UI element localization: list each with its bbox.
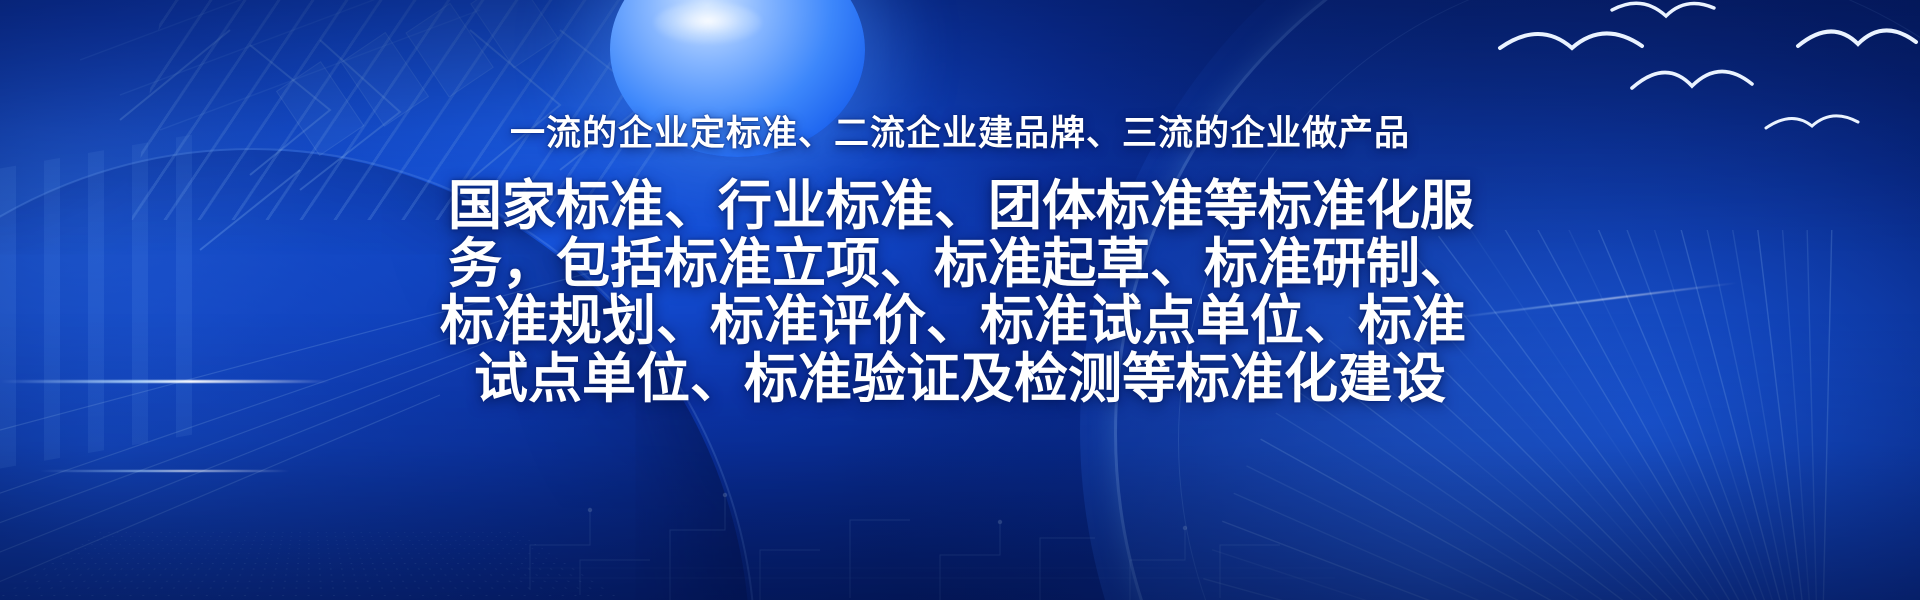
banner-headline: 国家标准、行业标准、团体标准等标准化服 务，包括标准立项、标准起草、标准研制、 …	[440, 156, 1480, 409]
light-streak	[40, 470, 290, 472]
banner-text-block: 一流的企业定标准、二流企业建品牌、三流的企业做产品 国家标准、行业标准、团体标准…	[0, 0, 1920, 409]
headline-line-2: 务，包括标准立项、标准起草、标准研制、	[440, 236, 1480, 294]
headline-line-3: 标准规划、标准评价、标准试点单位、标准	[440, 293, 1480, 351]
circuit-lines-decor	[520, 450, 1340, 600]
banner-tagline: 一流的企业定标准、二流企业建品牌、三流的企业做产品	[0, 0, 1920, 156]
headline-line-1: 国家标准、行业标准、团体标准等标准化服	[440, 178, 1480, 236]
headline-line-4: 试点单位、标准验证及检测等标准化建设	[440, 351, 1480, 409]
standardization-service-banner: 一流的企业定标准、二流企业建品牌、三流的企业做产品 国家标准、行业标准、团体标准…	[0, 0, 1920, 600]
perspective-dot-grid-decor	[0, 531, 630, 600]
